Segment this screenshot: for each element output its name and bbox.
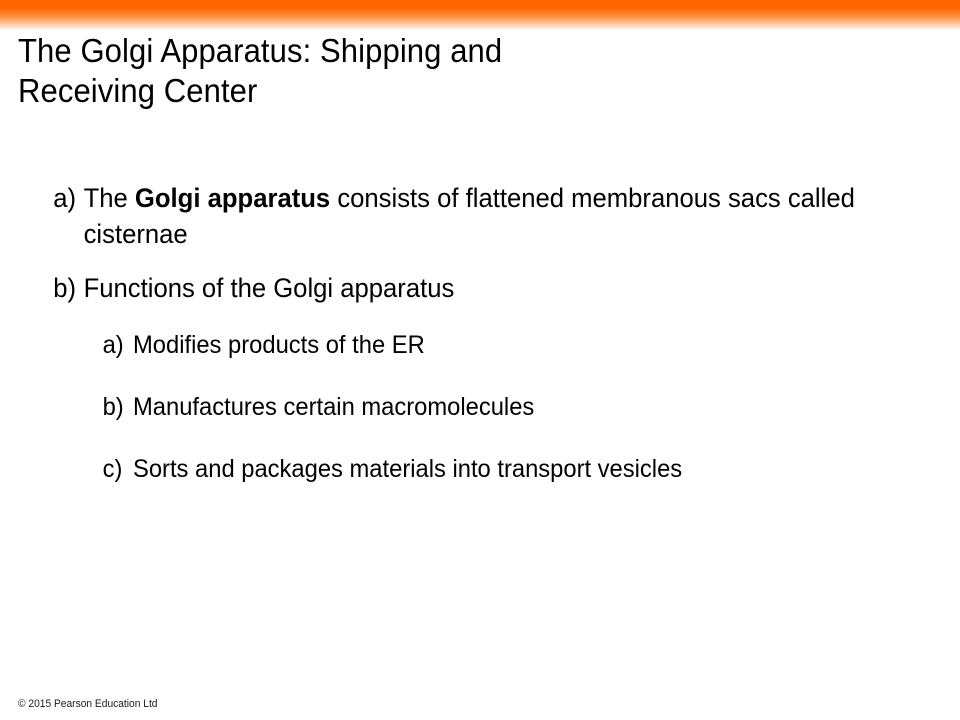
copyright-footer: © 2015 Pearson Education Ltd <box>18 697 158 711</box>
sublist-item-b-text: Manufactures certain macromolecules <box>133 393 534 421</box>
spacer-sublist-1 <box>0 362 960 390</box>
spacer-sublist-2 <box>0 424 960 452</box>
sublist-marker-b: b) <box>103 390 131 424</box>
sublist-item-a-text: Modifies products of the ER <box>133 331 425 359</box>
slide-title: The Golgi Apparatus: Shipping and Receiv… <box>18 31 676 111</box>
slide: The Golgi Apparatus: Shipping and Receiv… <box>0 0 960 720</box>
sublist-marker-c: c) <box>103 452 131 486</box>
sublist-marker-a: a) <box>103 328 131 362</box>
list-marker-a: a) <box>53 180 81 216</box>
list-item-b-text: Functions of the Golgi apparatus <box>84 273 455 303</box>
list-marker-b: b) <box>53 270 81 306</box>
list-item-a-bold-term: Golgi apparatus <box>135 183 330 213</box>
sublist-item-c-text: Sorts and packages materials into transp… <box>133 455 682 483</box>
list-item-a-text: The Golgi apparatus consists of flattene… <box>84 183 855 249</box>
list-item-b: b) Functions of the Golgi apparatus <box>0 270 912 306</box>
sublist-item-b: b) Manufactures certain macromolecules <box>0 390 912 424</box>
sublist-item-c: c) Sorts and packages materials into tra… <box>0 452 912 486</box>
title-line-2: Receiving Center <box>18 71 676 111</box>
spacer-after-item-a <box>0 252 960 270</box>
list-item-a-text-before: The <box>84 183 135 213</box>
content-list: a) The Golgi apparatus consists of flatt… <box>0 180 960 486</box>
title-line-1: The Golgi Apparatus: Shipping and <box>18 31 676 71</box>
list-item-a: a) The Golgi apparatus consists of flatt… <box>0 180 912 252</box>
accent-gradient-band <box>0 0 960 31</box>
sublist-item-a: a) Modifies products of the ER <box>0 328 912 362</box>
spacer-before-sublist <box>0 306 960 328</box>
